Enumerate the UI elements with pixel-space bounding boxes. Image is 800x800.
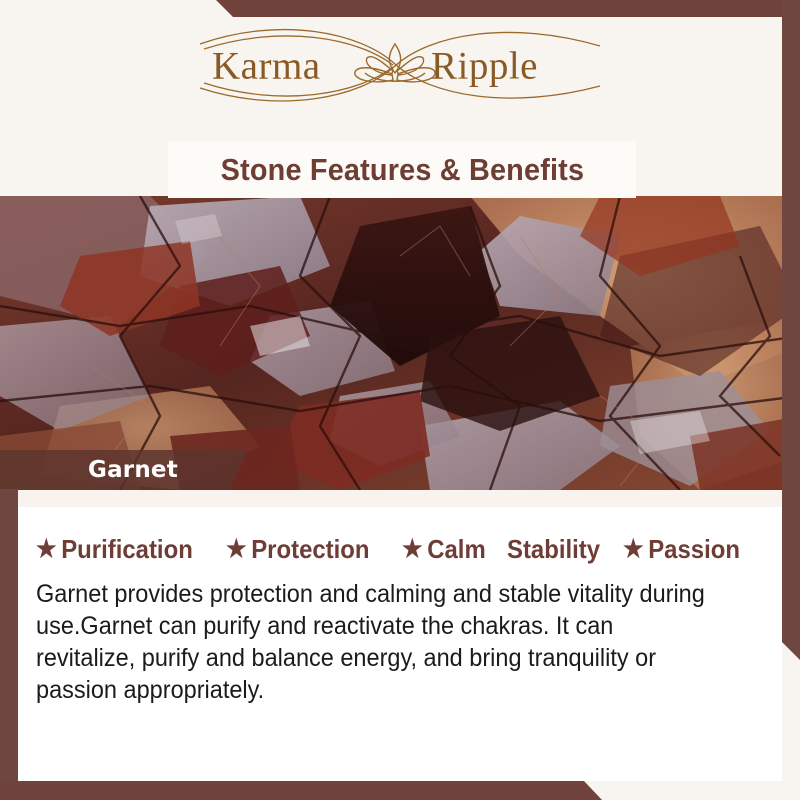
stone-name: Garnet bbox=[88, 457, 178, 483]
stone-info-poster: Karma Ripple Stone Features & Benefits bbox=[0, 0, 800, 800]
keyword-label: Purification bbox=[61, 534, 193, 565]
page-title-card: Stone Features & Benefits bbox=[168, 141, 636, 198]
keyword-calm: ★ Calm bbox=[402, 534, 486, 565]
keyword-label: Stability bbox=[507, 534, 600, 565]
keyword-protection: ★ Protection bbox=[226, 534, 370, 565]
brand-name-first: Karma bbox=[212, 47, 321, 86]
brand-name-second: Ripple bbox=[431, 47, 538, 86]
star-icon: ★ bbox=[402, 537, 423, 562]
keyword-label: Protection bbox=[252, 534, 370, 565]
content-strip bbox=[18, 490, 782, 507]
keyword-stability: Stability bbox=[507, 534, 600, 565]
stone-description: Garnet provides protection and calming a… bbox=[36, 578, 715, 706]
frame-right-bar bbox=[782, 0, 800, 660]
keyword-passion: ★ Passion bbox=[623, 534, 740, 565]
stone-name-badge: Garnet bbox=[0, 450, 248, 490]
benefit-keywords: ★ Purification ★ Protection ★ Calm Stabi… bbox=[36, 529, 766, 569]
frame-left-bar bbox=[0, 489, 18, 800]
brand-logo: Karma Ripple bbox=[0, 0, 800, 132]
keyword-label: Calm bbox=[428, 534, 486, 565]
garnet-crystal-image bbox=[0, 196, 800, 490]
star-icon: ★ bbox=[623, 537, 644, 562]
star-icon: ★ bbox=[226, 537, 247, 562]
logo-wrap: Karma Ripple bbox=[190, 18, 610, 114]
stone-photo bbox=[0, 196, 800, 490]
keyword-purification: ★ Purification bbox=[36, 534, 193, 565]
star-icon: ★ bbox=[36, 537, 57, 562]
page-title: Stone Features & Benefits bbox=[220, 152, 584, 188]
keyword-label: Passion bbox=[648, 534, 740, 565]
frame-bottom-bar bbox=[0, 781, 800, 800]
